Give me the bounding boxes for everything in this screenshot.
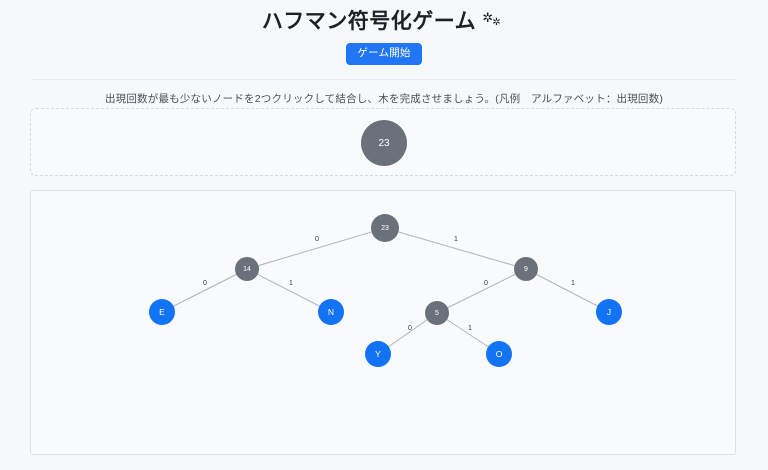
tree-internal-node[interactable]: 9 [514,257,538,281]
edge-label: 1 [289,280,293,287]
edge-label: 0 [408,325,412,332]
tree-edge [162,269,247,312]
edge-label: 0 [315,236,319,243]
tree-internal-node[interactable]: 23 [371,214,399,242]
tree-internal-node[interactable]: 5 [425,301,449,325]
tree-edge [437,269,526,313]
tree-edge [385,228,526,269]
edge-label: 1 [571,280,575,287]
tree-internal-node[interactable]: 14 [235,257,259,281]
edge-label: 0 [203,280,207,287]
edge-label: 1 [454,236,458,243]
tree-leaf-node[interactable]: O [486,341,512,367]
edge-label: 1 [468,325,472,332]
edge-label: 0 [484,280,488,287]
tree-edge [247,228,385,269]
tree-leaf-node[interactable]: Y [365,341,391,367]
tree-leaf-node[interactable]: E [149,299,175,325]
tree-leaf-node[interactable]: J [596,299,622,325]
tree-leaf-node[interactable]: N [318,299,344,325]
